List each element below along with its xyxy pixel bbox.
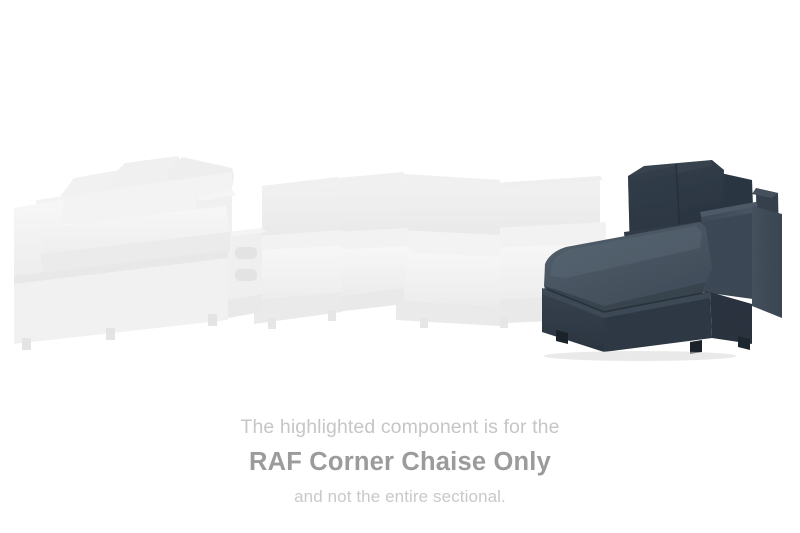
- caption-line-main: RAF Corner Chaise Only: [0, 444, 800, 480]
- sectional-illustration: [0, 0, 800, 400]
- caption-line-bottom: and not the entire sectional.: [0, 485, 800, 509]
- product-image-card: The highlighted component is for the RAF…: [0, 0, 800, 533]
- ghost-armless-chair-right: [396, 174, 500, 328]
- ghost-armless-chair-left: [254, 177, 342, 329]
- ghost-armchair-left: [14, 156, 236, 350]
- ghost-console: [228, 228, 266, 318]
- caption-line-top: The highlighted component is for the: [0, 414, 800, 440]
- ghosted-sectional-group: [14, 156, 607, 350]
- caption-block: The highlighted component is for the RAF…: [0, 414, 800, 509]
